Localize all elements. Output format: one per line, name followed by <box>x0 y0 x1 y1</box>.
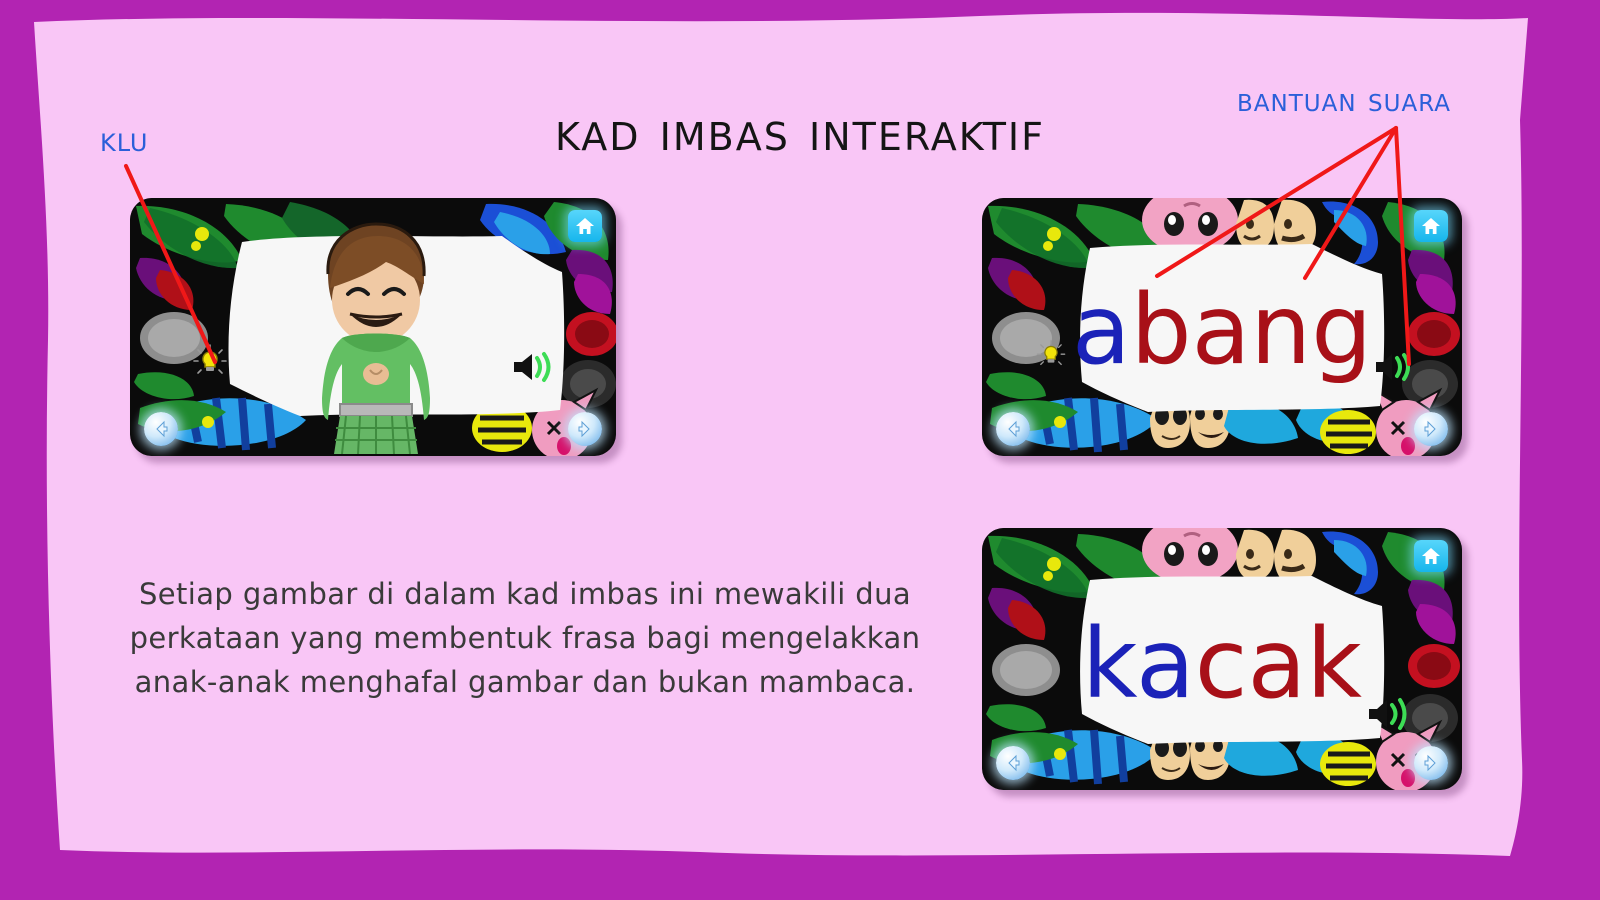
next-button[interactable] <box>1414 746 1448 780</box>
lightbulb-icon <box>1034 338 1068 372</box>
speaker-icon <box>1366 696 1410 732</box>
home-icon <box>1421 217 1441 235</box>
description-paragraph: Setiap gambar di dalam kad imbas ini mew… <box>100 572 950 704</box>
annotation-label-klu: Klu <box>100 120 148 160</box>
home-icon <box>1421 547 1441 565</box>
arrow-right-icon <box>1422 754 1440 772</box>
speaker-button[interactable] <box>1374 350 1414 388</box>
prev-button[interactable] <box>144 412 178 446</box>
speaker-icon <box>1374 350 1414 384</box>
picture-boy-illustration <box>290 222 460 454</box>
word-part-2: bang <box>1131 274 1373 386</box>
word-part-1: a <box>1072 274 1131 386</box>
flashcard-kacak[interactable]: kacak <box>982 528 1462 790</box>
next-button[interactable] <box>568 412 602 446</box>
clue-button[interactable] <box>1034 338 1068 376</box>
arrow-right-icon <box>576 420 594 438</box>
clue-button[interactable] <box>190 342 230 386</box>
home-button[interactable] <box>1414 540 1448 572</box>
annotation-label-bantuan-suara: Bantuan Suara <box>1237 80 1451 119</box>
arrow-left-icon <box>152 420 170 438</box>
lightbulb-icon <box>190 342 230 382</box>
word-part-1: ka <box>1082 608 1195 720</box>
speaker-button[interactable] <box>510 350 556 388</box>
prev-button[interactable] <box>996 746 1030 780</box>
speaker-icon <box>510 350 556 384</box>
next-button[interactable] <box>1414 412 1448 446</box>
speaker-button[interactable] <box>1366 696 1410 736</box>
home-icon <box>575 217 595 235</box>
flashcard-picture[interactable] <box>130 198 616 456</box>
flashcard-abang[interactable]: abang <box>982 198 1462 456</box>
home-button[interactable] <box>1414 210 1448 242</box>
arrow-left-icon <box>1004 420 1022 438</box>
prev-button[interactable] <box>996 412 1030 446</box>
slide-canvas: Kad Imbas Interaktif Klu Bantuan Suara S… <box>0 0 1600 900</box>
arrow-right-icon <box>1422 420 1440 438</box>
home-button[interactable] <box>568 210 602 242</box>
arrow-left-icon <box>1004 754 1022 772</box>
word-part-2: cak <box>1195 608 1362 720</box>
